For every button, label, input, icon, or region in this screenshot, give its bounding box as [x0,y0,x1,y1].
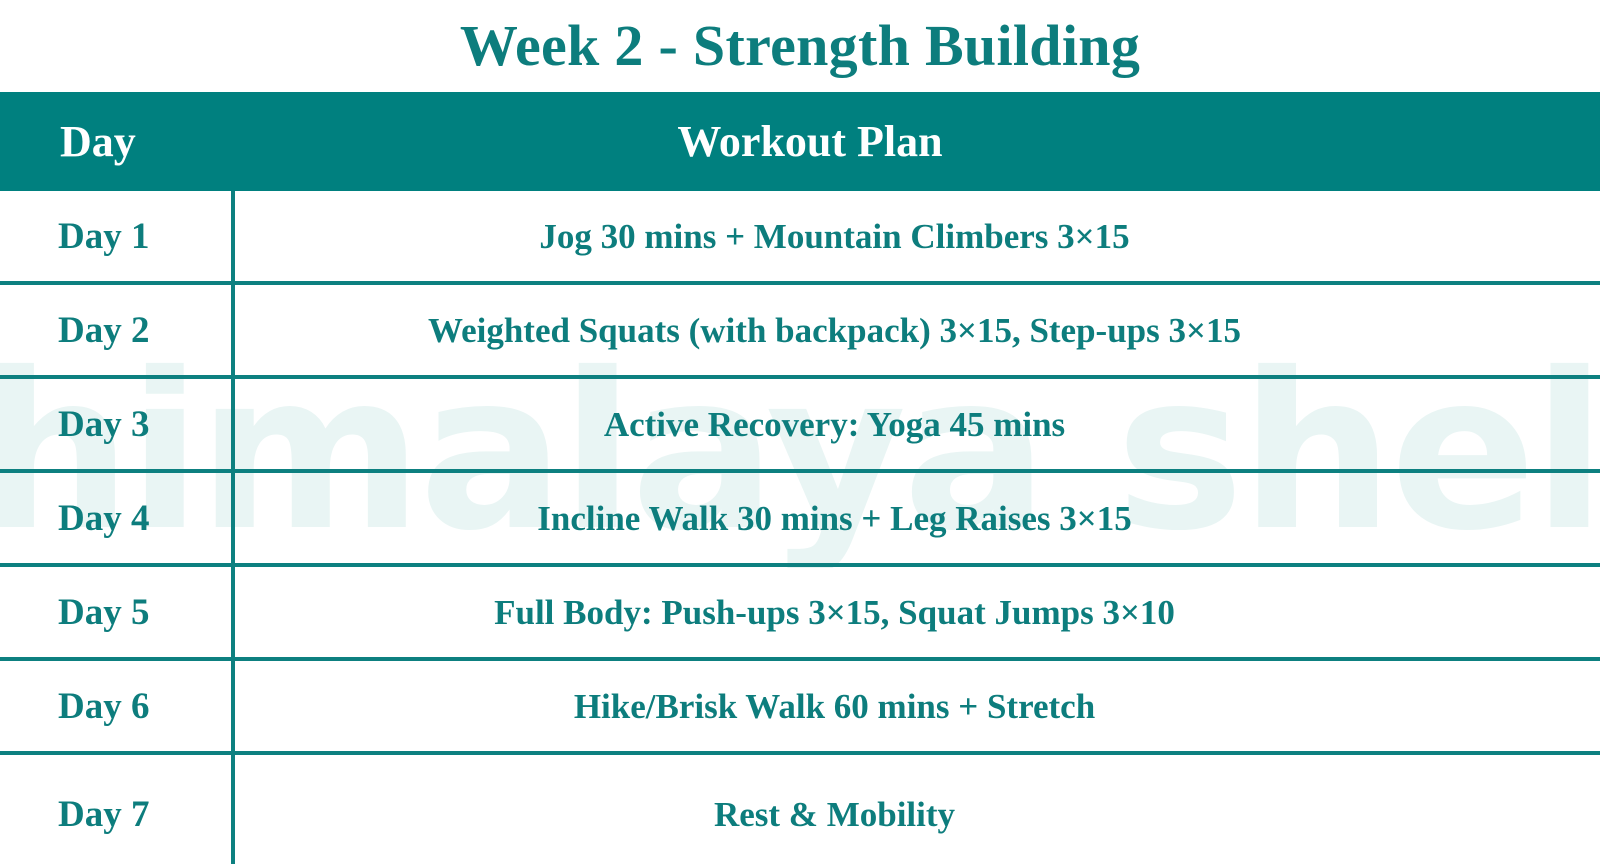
cell-day-label: Day 1 [58,218,149,255]
cell-workout-plan: Hike/Brisk Walk 60 mins + Stretch [235,661,1600,751]
cell-workout-plan-label: Full Body: Push-ups 3×15, Squat Jumps 3×… [494,595,1175,630]
table-header-row: Day Workout Plan [0,92,1600,191]
workout-plan-page: himalaya shelter Week 2 - Strength Build… [0,0,1600,864]
table-row: Day 6 Hike/Brisk Walk 60 mins + Stretch [0,661,1600,755]
cell-workout-plan-label: Weighted Squats (with backpack) 3×15, St… [428,313,1241,348]
column-header-workout-plan-label: Workout Plan [677,120,942,164]
cell-workout-plan: Jog 30 mins + Mountain Climbers 3×15 [235,191,1600,281]
cell-day-label: Day 2 [58,312,149,349]
cell-day: Day 2 [0,285,235,375]
table-row: Day 4 Incline Walk 30 mins + Leg Raises … [0,473,1600,567]
table-row: Day 7 Rest & Mobility [0,755,1600,864]
cell-workout-plan: Weighted Squats (with backpack) 3×15, St… [235,285,1600,375]
cell-day-label: Day 6 [58,688,149,725]
cell-day: Day 5 [0,567,235,657]
cell-day: Day 3 [0,379,235,469]
cell-workout-plan-label: Incline Walk 30 mins + Leg Raises 3×15 [537,501,1131,536]
table-row: Day 5 Full Body: Push-ups 3×15, Squat Ju… [0,567,1600,661]
cell-workout-plan-label: Rest & Mobility [714,797,955,832]
cell-workout-plan-label: Active Recovery: Yoga 45 mins [604,407,1065,442]
workout-plan-table: Day Workout Plan Day 1 Jog 30 mins + Mou… [0,92,1600,864]
table-row: Day 1 Jog 30 mins + Mountain Climbers 3×… [0,191,1600,285]
cell-day-label: Day 4 [58,500,149,537]
cell-workout-plan-label: Jog 30 mins + Mountain Climbers 3×15 [539,219,1129,254]
column-header-workout-plan: Workout Plan [235,92,1600,191]
column-header-day: Day [0,92,235,191]
cell-workout-plan: Active Recovery: Yoga 45 mins [235,379,1600,469]
cell-day: Day 4 [0,473,235,563]
cell-day-label: Day 7 [58,796,149,833]
cell-workout-plan-label: Hike/Brisk Walk 60 mins + Stretch [574,689,1095,724]
cell-workout-plan: Incline Walk 30 mins + Leg Raises 3×15 [235,473,1600,563]
table-body: Day 1 Jog 30 mins + Mountain Climbers 3×… [0,191,1600,864]
table-row: Day 3 Active Recovery: Yoga 45 mins [0,379,1600,473]
table-row: Day 2 Weighted Squats (with backpack) 3×… [0,285,1600,379]
cell-day: Day 7 [0,755,235,864]
page-title: Week 2 - Strength Building [0,0,1600,92]
page-title-text: Week 2 - Strength Building [460,17,1140,75]
cell-workout-plan: Full Body: Push-ups 3×15, Squat Jumps 3×… [235,567,1600,657]
cell-day: Day 1 [0,191,235,281]
cell-day: Day 6 [0,661,235,751]
cell-day-label: Day 3 [58,406,149,443]
cell-day-label: Day 5 [58,594,149,631]
column-header-day-label: Day [60,120,136,164]
cell-workout-plan: Rest & Mobility [235,755,1600,864]
